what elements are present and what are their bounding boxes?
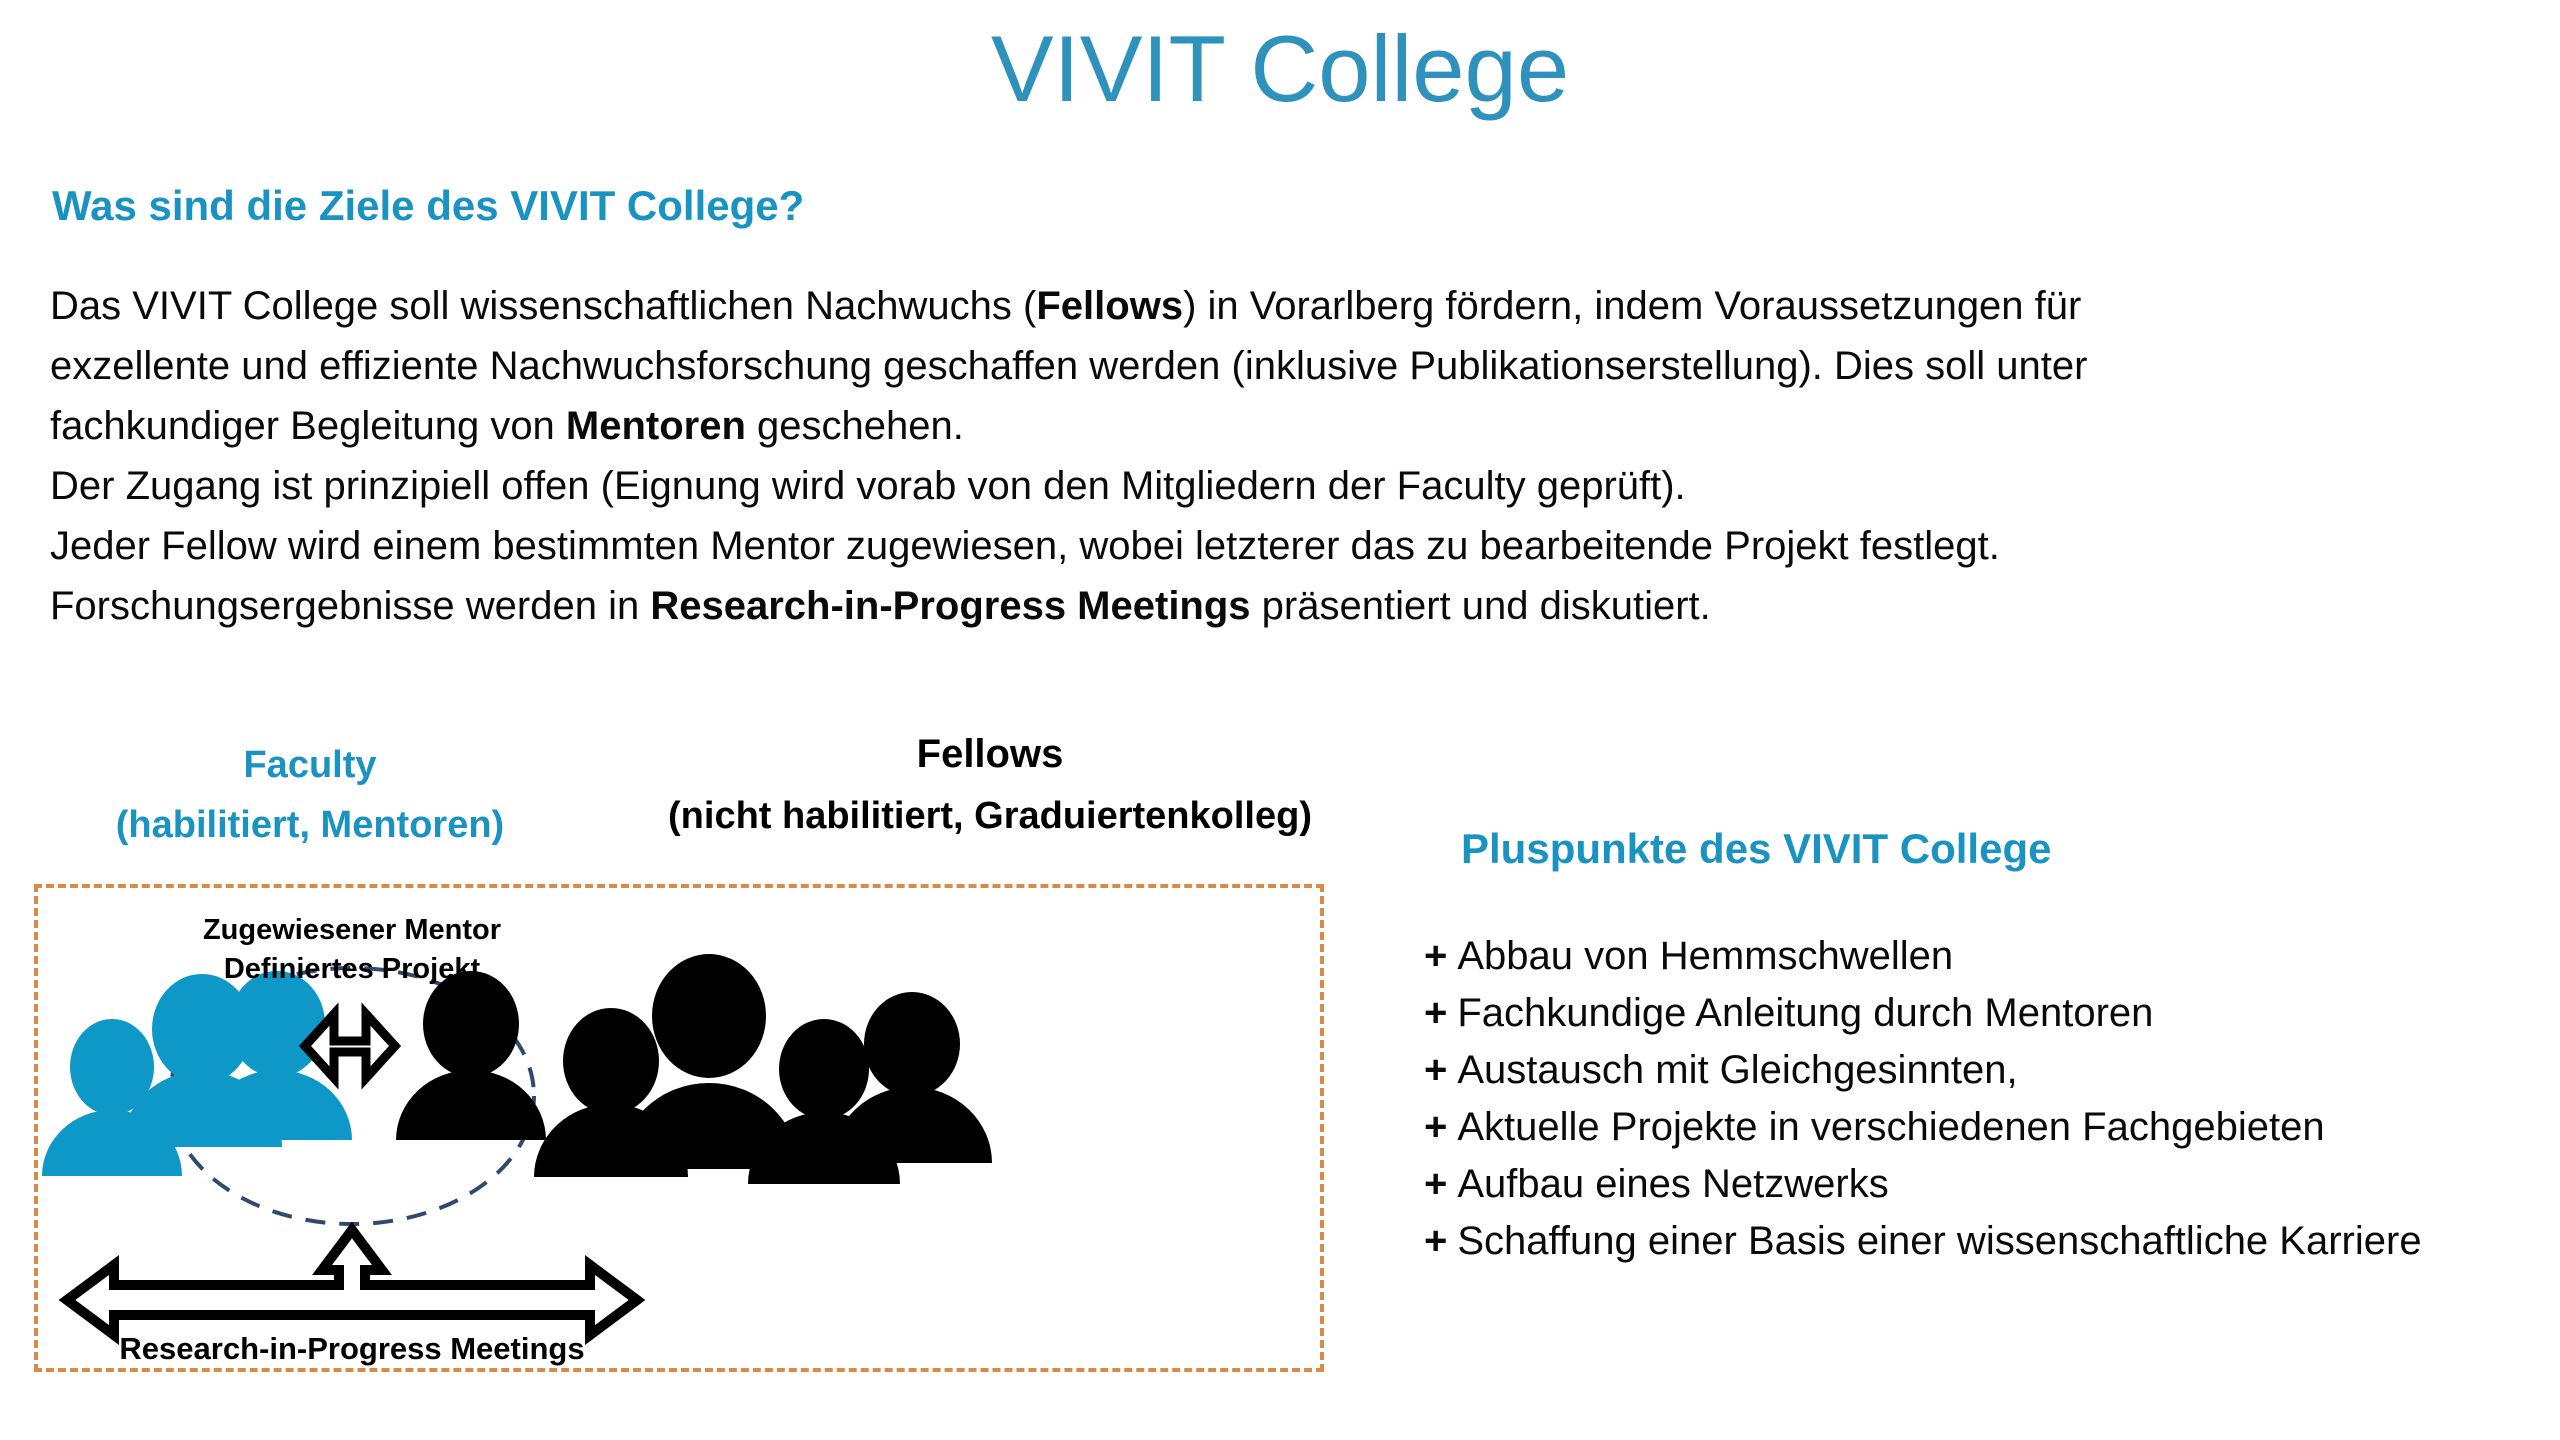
list-item: +Aufbau eines Netzwerks bbox=[1424, 1156, 2560, 1213]
list-item-label: Austausch mit Gleichgesinnten, bbox=[1457, 1048, 2017, 1092]
bottom-arrow-label: Research-in-Progress Meetings bbox=[119, 1331, 584, 1366]
research-in-progress-arrow bbox=[67, 1230, 637, 1335]
faculty-label-line1: Faculty bbox=[40, 735, 580, 795]
list-item: +Aktuelle Projekte in verschiedenen Fach… bbox=[1424, 1099, 2560, 1156]
list-item-label: Aktuelle Projekte in verschiedenen Fachg… bbox=[1457, 1105, 2324, 1149]
goals-body-text: Das VIVIT College soll wissenschaftliche… bbox=[50, 276, 2520, 636]
faculty-label-line2: (habilitiert, Mentoren) bbox=[40, 795, 580, 855]
page-title: VIVIT College bbox=[0, 20, 2560, 119]
fellows-crowd-icon bbox=[534, 954, 992, 1184]
list-item: +Austausch mit Gleichgesinnten, bbox=[1424, 1042, 2560, 1099]
plus-sign-icon: + bbox=[1424, 1219, 1447, 1263]
list-item: +Schaffung einer Basis einer wissenschaf… bbox=[1424, 1213, 2560, 1270]
goals-line: exzellente und effiziente Nachwuchsforsc… bbox=[50, 336, 2520, 396]
list-item-label: Abbau von Hemmschwellen bbox=[1457, 934, 1953, 978]
pluspoints-heading: Pluspunkte des VIVIT College bbox=[1461, 825, 2051, 873]
goals-line: Der Zugang ist prinzipiell offen (Eignun… bbox=[50, 456, 2520, 516]
plus-sign-icon: + bbox=[1424, 1105, 1447, 1149]
goals-line: Das VIVIT College soll wissenschaftliche… bbox=[50, 276, 2520, 336]
bold-mentoren: Mentoren bbox=[566, 404, 746, 448]
bold-rip-meetings: Research-in-Progress Meetings bbox=[650, 584, 1250, 628]
goals-line: Forschungsergebnisse werden in Research-… bbox=[50, 576, 2520, 636]
goals-line: fachkundiger Begleitung von Mentoren ges… bbox=[50, 396, 2520, 456]
list-item: +Abbau von Hemmschwellen bbox=[1424, 928, 2560, 985]
diagram-figure: Zugewiesener Mentor Definiertes Projekt … bbox=[34, 884, 1324, 1372]
goals-section-heading: Was sind die Ziele des VIVIT College? bbox=[52, 182, 804, 230]
ellipse-caption-line2: Definiertes Projekt bbox=[224, 953, 481, 985]
list-item: +Fachkundige Anleitung durch Mentoren bbox=[1424, 985, 2560, 1042]
assigned-fellow-person-icon bbox=[396, 971, 546, 1140]
list-item-label: Fachkundige Anleitung durch Mentoren bbox=[1457, 991, 2153, 1035]
list-item-label: Schaffung einer Basis einer wissenschaft… bbox=[1457, 1219, 2421, 1263]
plus-sign-icon: + bbox=[1424, 991, 1447, 1035]
goals-line: Jeder Fellow wird einem bestimmten Mento… bbox=[50, 516, 2520, 576]
plus-sign-icon: + bbox=[1424, 934, 1447, 978]
fellows-label-line2: (nicht habilitiert, Graduiertenkolleg) bbox=[560, 785, 1420, 847]
list-item-label: Aufbau eines Netzwerks bbox=[1457, 1162, 1888, 1206]
plus-sign-icon: + bbox=[1424, 1048, 1447, 1092]
bold-fellows: Fellows bbox=[1036, 284, 1183, 328]
fellows-group-label: Fellows (nicht habilitiert, Graduiertenk… bbox=[560, 723, 1420, 847]
pluspoints-list: +Abbau von Hemmschwellen +Fachkundige An… bbox=[1424, 928, 2560, 1270]
faculty-group-label: Faculty (habilitiert, Mentoren) bbox=[40, 735, 580, 855]
ellipse-caption-line1: Zugewiesener Mentor bbox=[203, 914, 501, 946]
plus-sign-icon: + bbox=[1424, 1162, 1447, 1206]
fellows-label-line1: Fellows bbox=[560, 723, 1420, 785]
